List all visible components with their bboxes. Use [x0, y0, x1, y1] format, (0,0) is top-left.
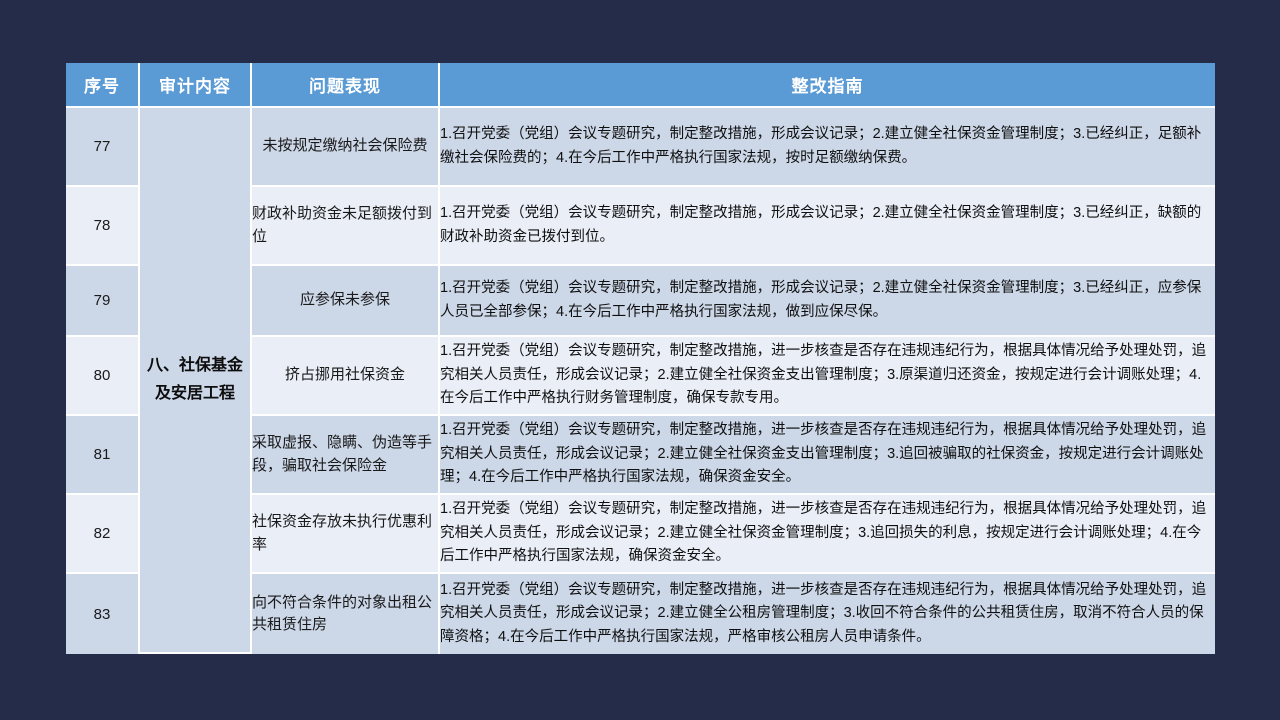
cell-index: 81 — [66, 416, 140, 495]
slide-canvas: 序号 审计内容 问题表现 整改指南 77八、社保基金及安居工程未按规定缴纳社会保… — [0, 0, 1280, 720]
column-header-issue: 问题表现 — [252, 63, 440, 108]
audit-group-label-line2: 及安居工程 — [140, 380, 250, 408]
column-header-guide: 整改指南 — [440, 63, 1215, 108]
cell-index: 82 — [66, 495, 140, 574]
cell-guide: 1.召开党委（党组）会议专题研究，制定整改措施，形成会议记录；2.建立健全社保资… — [440, 266, 1215, 337]
cell-guide: 1.召开党委（党组）会议专题研究，制定整改措施，进一步核查是否存在违规违纪行为，… — [440, 495, 1215, 574]
cell-guide: 1.召开党委（党组）会议专题研究，制定整改措施，形成会议记录；2.建立健全社保资… — [440, 187, 1215, 266]
cell-guide: 1.召开党委（党组）会议专题研究，制定整改措施，进一步核查是否存在违规违纪行为，… — [440, 574, 1215, 654]
audit-table-container: 序号 审计内容 问题表现 整改指南 77八、社保基金及安居工程未按规定缴纳社会保… — [66, 63, 1215, 658]
table-row: 77八、社保基金及安居工程未按规定缴纳社会保险费1.召开党委（党组）会议专题研究… — [66, 108, 1215, 187]
cell-index: 78 — [66, 187, 140, 266]
cell-index: 77 — [66, 108, 140, 187]
audit-group-label-line1: 八、社保基金 — [140, 352, 250, 380]
cell-issue: 社保资金存放未执行优惠利率 — [252, 495, 440, 574]
cell-index: 79 — [66, 266, 140, 337]
column-header-index: 序号 — [66, 63, 140, 108]
cell-index: 83 — [66, 574, 140, 654]
cell-guide: 1.召开党委（党组）会议专题研究，制定整改措施，进一步核查是否存在违规违纪行为，… — [440, 337, 1215, 416]
audit-table: 序号 审计内容 问题表现 整改指南 77八、社保基金及安居工程未按规定缴纳社会保… — [66, 63, 1215, 654]
cell-issue: 未按规定缴纳社会保险费 — [252, 108, 440, 187]
cell-guide: 1.召开党委（党组）会议专题研究，制定整改措施，形成会议记录；2.建立健全社保资… — [440, 108, 1215, 187]
table-header: 序号 审计内容 问题表现 整改指南 — [66, 63, 1215, 108]
cell-issue: 采取虚报、隐瞒、伪造等手段，骗取社会保险金 — [252, 416, 440, 495]
table-body: 77八、社保基金及安居工程未按规定缴纳社会保险费1.召开党委（党组）会议专题研究… — [66, 108, 1215, 654]
cell-index: 80 — [66, 337, 140, 416]
cell-guide: 1.召开党委（党组）会议专题研究，制定整改措施，进一步核查是否存在违规违纪行为，… — [440, 416, 1215, 495]
column-header-audit-content: 审计内容 — [140, 63, 252, 108]
cell-issue: 向不符合条件的对象出租公共租赁住房 — [252, 574, 440, 654]
cell-issue: 挤占挪用社保资金 — [252, 337, 440, 416]
cell-audit-content-group: 八、社保基金及安居工程 — [140, 108, 252, 654]
cell-issue: 应参保未参保 — [252, 266, 440, 337]
header-row: 序号 审计内容 问题表现 整改指南 — [66, 63, 1215, 108]
cell-issue: 财政补助资金未足额拨付到位 — [252, 187, 440, 266]
